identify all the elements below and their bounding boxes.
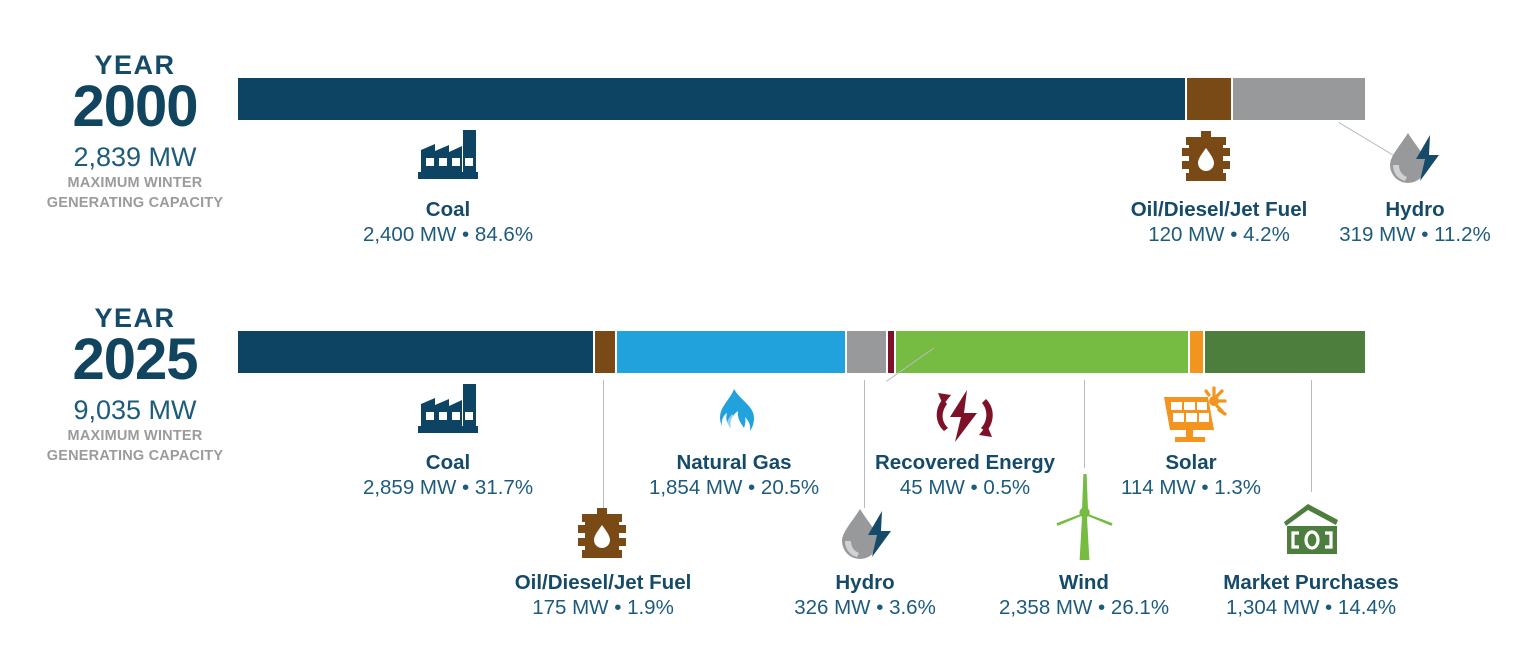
label-value: 45 MW • 0.5% (845, 475, 1085, 501)
label-market-purchases-2025: Market Purchases 1,304 MW • 14.4% (1191, 571, 1431, 620)
money-icon (1278, 500, 1344, 558)
stacked-bar-2000 (238, 78, 1365, 120)
factory-icon (413, 382, 483, 440)
label-value: 175 MW • 1.9% (462, 595, 744, 621)
label-value: 1,304 MW • 14.4% (1191, 595, 1431, 621)
capacity-caption-line1-2000: MAXIMUM WINTER (15, 175, 255, 192)
oil-barrel-icon (1180, 131, 1232, 187)
bar-segment-coal-2025[interactable] (238, 331, 594, 373)
hydro-drop-bolt-icon (1386, 132, 1444, 186)
label-oil-2025: Oil/Diesel/Jet Fuel 175 MW • 1.9% (462, 571, 744, 620)
flame-icon (708, 388, 760, 444)
label-value: 326 MW • 3.6% (745, 595, 985, 621)
label-natural-gas-2025: Natural Gas 1,854 MW • 20.5% (608, 451, 860, 500)
label-value: 319 MW • 11.2% (1290, 222, 1529, 248)
bar-segment-recovered-energy-2025[interactable] (887, 331, 895, 373)
year-block-2000: YEAR 2000 2,839 MW MAXIMUM WINTER GENERA… (15, 52, 255, 212)
bar-segment-market-purchases-2025[interactable] (1204, 331, 1365, 373)
label-value: 2,400 MW • 84.6% (318, 222, 578, 248)
label-name: Recovered Energy (845, 451, 1085, 475)
year-number-2000: 2000 (15, 77, 255, 136)
bar-segment-hydro-2000[interactable] (1232, 78, 1365, 120)
hydro-drop-bolt-icon (838, 508, 896, 562)
total-capacity-2000: 2,839 MW (15, 143, 255, 171)
label-name: Wind (964, 571, 1204, 595)
bar-segment-wind-2025[interactable] (895, 331, 1189, 373)
capacity-caption-line2-2025: GENERATING CAPACITY (15, 448, 255, 465)
label-value: 2,358 MW • 26.1% (964, 595, 1204, 621)
label-name: Hydro (1290, 198, 1529, 222)
leader-line-oil-2025 (603, 380, 604, 508)
label-hydro-2025: Hydro 326 MW • 3.6% (745, 571, 985, 620)
label-hydro-2000: Hydro 319 MW • 11.2% (1290, 198, 1529, 247)
bar-segment-natural-gas-2025[interactable] (616, 331, 846, 373)
label-name: Oil/Diesel/Jet Fuel (462, 571, 744, 595)
wind-turbine-icon (1055, 470, 1113, 562)
recovered-energy-icon (930, 387, 1000, 445)
label-wind-2025: Wind 2,358 MW • 26.1% (964, 571, 1204, 620)
label-name: Natural Gas (608, 451, 860, 475)
factory-icon (413, 128, 483, 186)
bar-segment-hydro-2025[interactable] (846, 331, 887, 373)
label-name: Hydro (745, 571, 985, 595)
label-value: 1,854 MW • 20.5% (608, 475, 860, 501)
bar-segment-oil-2000[interactable] (1186, 78, 1232, 120)
label-value: 2,859 MW • 31.7% (318, 475, 578, 501)
stacked-bar-2025 (238, 331, 1365, 373)
capacity-caption-line1-2025: MAXIMUM WINTER (15, 428, 255, 445)
capacity-caption-line2-2000: GENERATING CAPACITY (15, 195, 255, 212)
label-coal-2000: Coal 2,400 MW • 84.6% (318, 198, 578, 247)
leader-line-market-purchases-2025 (1311, 380, 1312, 492)
label-recovered-energy-2025: Recovered Energy 45 MW • 0.5% (845, 451, 1085, 500)
bar-segment-oil-2025[interactable] (594, 331, 616, 373)
label-name: Coal (318, 198, 578, 222)
label-name: Market Purchases (1191, 571, 1431, 595)
bar-segment-solar-2025[interactable] (1189, 331, 1204, 373)
year-block-2025: YEAR 2025 9,035 MW MAXIMUM WINTER GENERA… (15, 305, 255, 465)
oil-barrel-icon (576, 508, 628, 564)
year-number-2025: 2025 (15, 330, 255, 389)
label-coal-2025: Coal 2,859 MW • 31.7% (318, 451, 578, 500)
bar-segment-coal-2000[interactable] (238, 78, 1186, 120)
label-name: Coal (318, 451, 578, 475)
total-capacity-2025: 9,035 MW (15, 396, 255, 424)
infographic-canvas: YEAR 2000 2,839 MW MAXIMUM WINTER GENERA… (0, 0, 1529, 653)
solar-panel-icon (1160, 387, 1228, 445)
